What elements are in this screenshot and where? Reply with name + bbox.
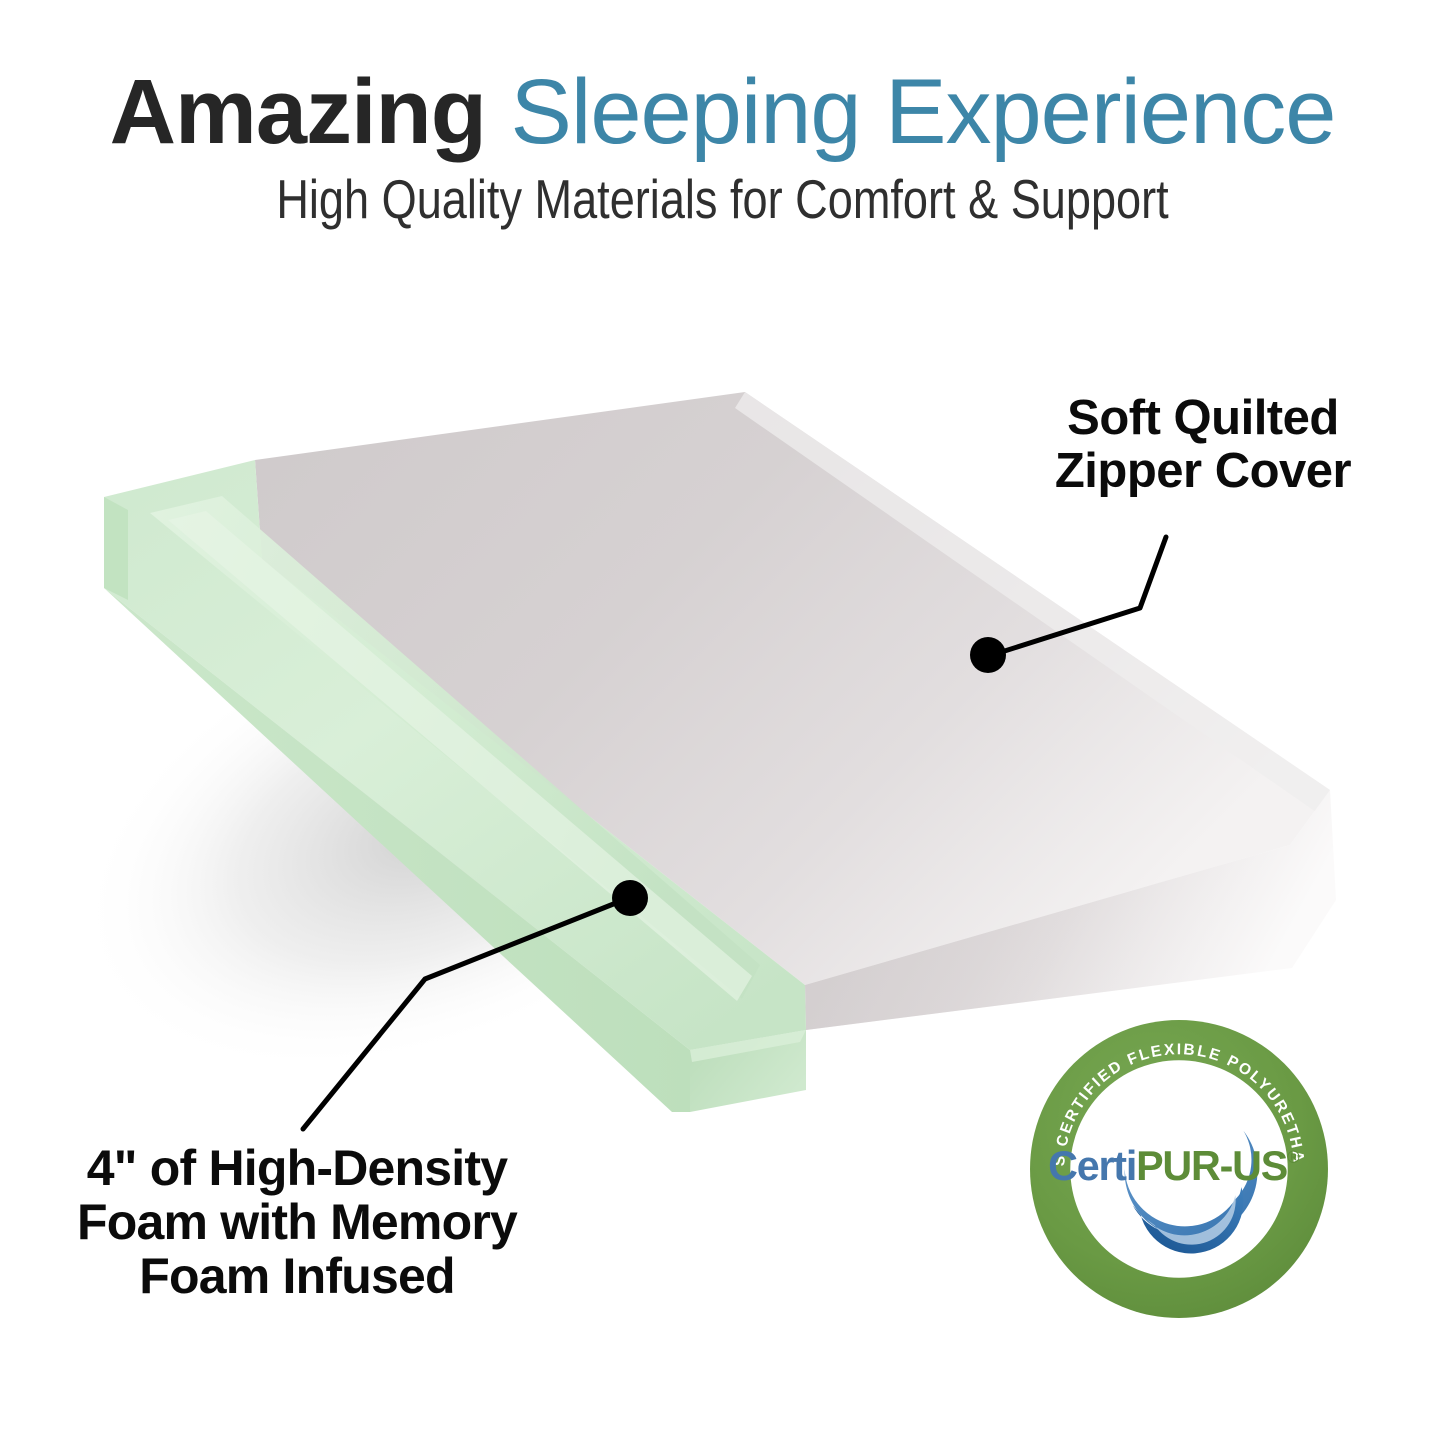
foam-end-cap bbox=[690, 1030, 806, 1112]
foam-front-face bbox=[104, 588, 690, 1112]
foam-rail-top bbox=[104, 460, 806, 1050]
callout-foam-line-2: Foam with Memory bbox=[38, 1195, 556, 1249]
badge-wordmark: CertiPUR-US® bbox=[1048, 1143, 1300, 1189]
callout-line-foam bbox=[303, 880, 648, 1129]
callout-cover-line-1: Soft Quilted bbox=[1038, 392, 1368, 445]
callout-foam-line-1: 4" of High-Density bbox=[38, 1141, 556, 1195]
callout-line-cover bbox=[970, 537, 1166, 673]
svg-text:CertiPUR-US®: CertiPUR-US® bbox=[1048, 1143, 1300, 1189]
callout-label-cover: Soft Quilted Zipper Cover bbox=[1038, 392, 1368, 498]
header: Amazing Sleeping Experience High Quality… bbox=[0, 0, 1445, 227]
product-shadow bbox=[6, 492, 853, 1168]
infographic-page: Amazing Sleeping Experience High Quality… bbox=[0, 0, 1445, 1445]
badge-registered-mark: ® bbox=[1287, 1148, 1300, 1167]
page-title: Amazing Sleeping Experience bbox=[0, 0, 1445, 158]
callout-label-foam: 4" of High-Density Foam with Memory Foam… bbox=[38, 1141, 556, 1303]
foam-groove bbox=[150, 496, 760, 1001]
callout-cover-line-2: Zipper Cover bbox=[1038, 445, 1368, 498]
foam-left-face bbox=[104, 497, 690, 1112]
certipur-us-badge: CONTAINS CERTIFIED FLEXIBLE POLYURETHANE… bbox=[1028, 1018, 1330, 1320]
headline-strong: Amazing bbox=[110, 61, 486, 163]
cover-front-face bbox=[805, 790, 1336, 1030]
page-subtitle: High Quality Materials for Comfort & Sup… bbox=[130, 158, 1315, 227]
badge-brand-first: Certi bbox=[1048, 1143, 1136, 1189]
callout-dot-foam bbox=[612, 880, 648, 916]
callout-foam-line-3: Foam Infused bbox=[38, 1249, 556, 1303]
headline-light: Sleeping Experience bbox=[511, 61, 1336, 163]
badge-brand-second: PUR-US bbox=[1136, 1143, 1287, 1189]
callout-dot-cover bbox=[970, 637, 1006, 673]
